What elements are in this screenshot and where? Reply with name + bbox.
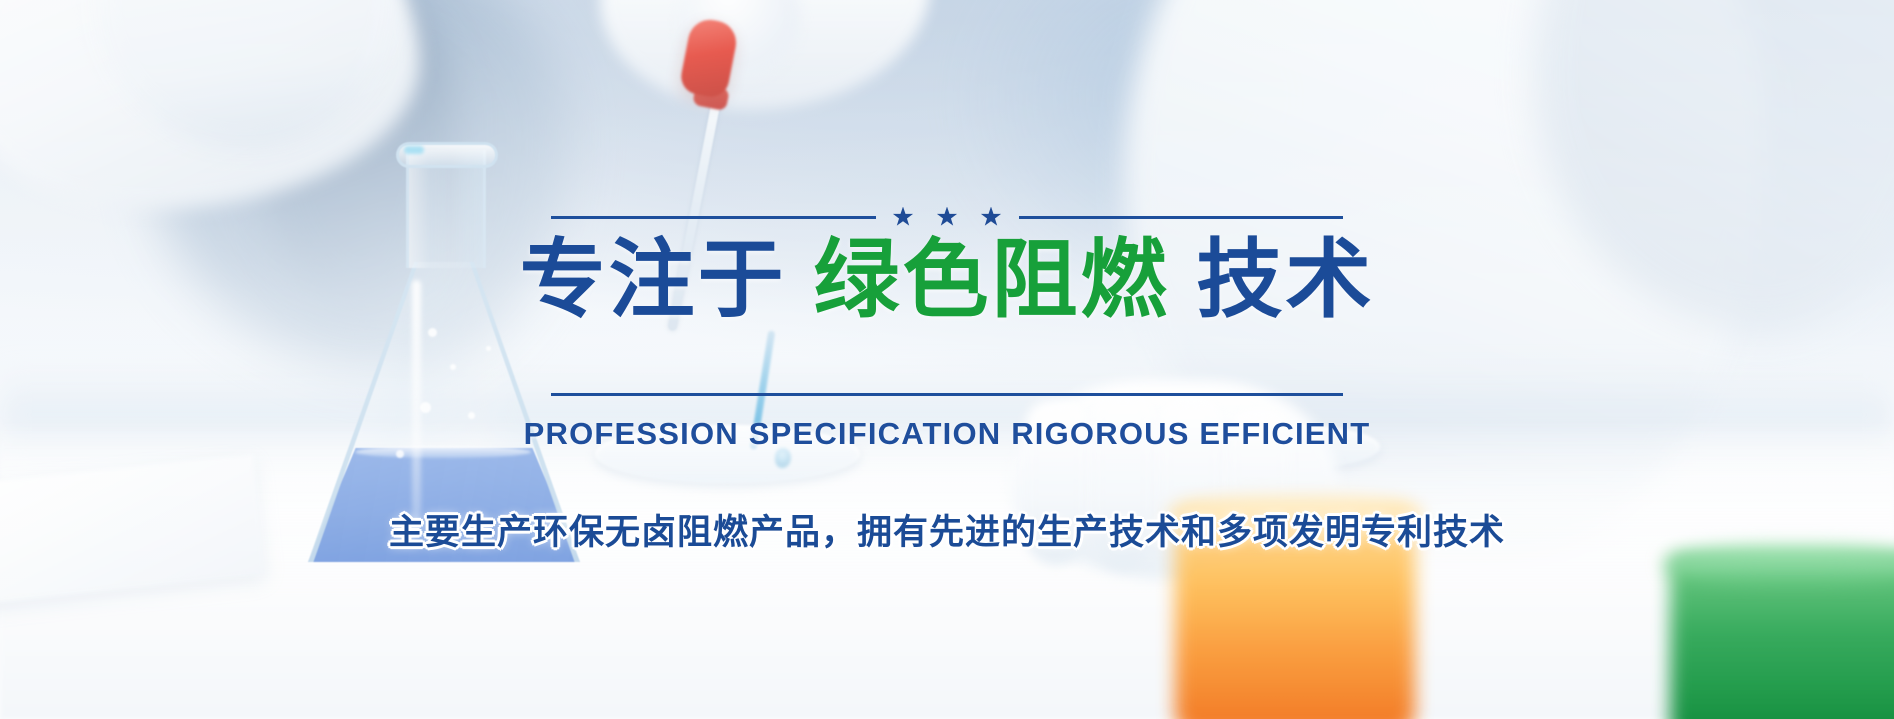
banner-content: 专注于 绿色阻燃 技术 PROFESSION SPECIFICATION RIG… [0, 0, 1894, 719]
banner-headline: 专注于 绿色阻燃 技术 [520, 232, 1375, 329]
star-group [876, 207, 1019, 228]
banner-description: 主要生产环保无卤阻燃产品，拥有先进的生产技术和多项发明专利技术 [389, 504, 1505, 555]
top-divider [551, 208, 1343, 226]
star-icon [981, 207, 1002, 228]
star-icon [893, 207, 914, 228]
divider-line-left [551, 216, 876, 219]
headline-part-1: 专注于 [520, 232, 814, 328]
bottom-divider [551, 393, 1343, 396]
divider-line-right [1019, 216, 1344, 219]
banner-subtitle: PROFESSION SPECIFICATION RIGOROUS EFFICI… [524, 416, 1371, 452]
star-icon [937, 207, 958, 228]
headline-part-2: 绿色阻燃 [814, 232, 1170, 328]
promo-banner: 专注于 绿色阻燃 技术 PROFESSION SPECIFICATION RIG… [0, 0, 1894, 719]
headline-part-3: 技术 [1170, 232, 1375, 328]
